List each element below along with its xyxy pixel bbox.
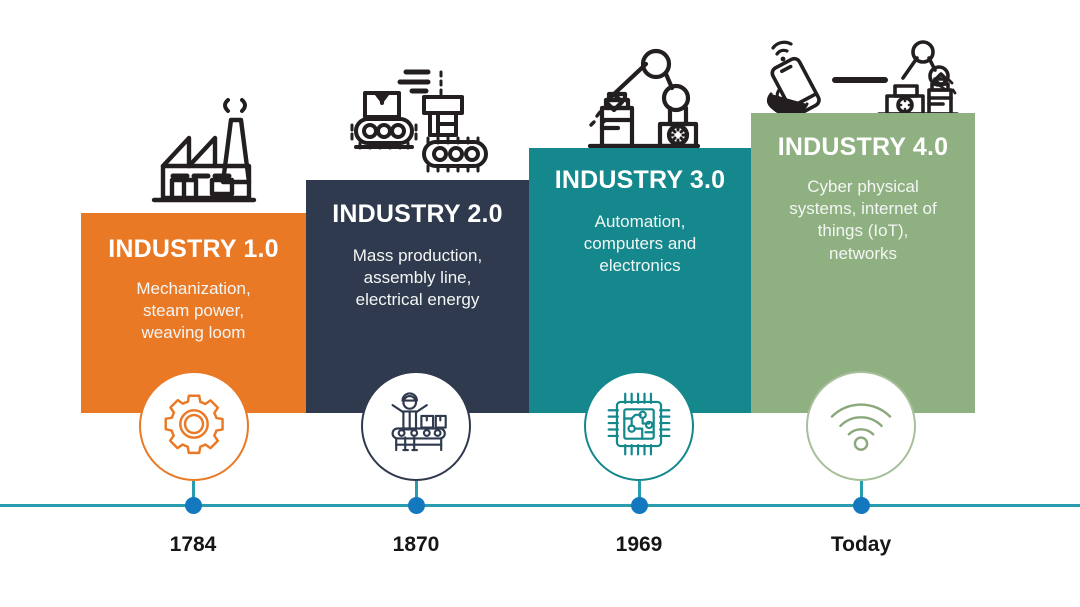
infographic-canvas: INDUSTRY 1.0 Mechanization,steam power,w… — [0, 0, 1080, 607]
stage-description: Automation,computers andelectronics — [529, 195, 751, 278]
conveyor-packaging-icon — [346, 64, 496, 176]
stage-panel-industry-4: INDUSTRY 4.0 Cyber physicalsystems, inte… — [751, 113, 975, 413]
stage-badge-industry-2 — [361, 371, 471, 481]
factory-icon — [132, 92, 266, 210]
gear-icon — [161, 391, 227, 462]
stage-title: INDUSTRY 1.0 — [81, 213, 306, 264]
timeline-year-industry-4: Today — [781, 533, 941, 557]
timeline-year-industry-2: 1870 — [336, 533, 496, 557]
stage-description: Mechanization,steam power,weaving loom — [81, 264, 306, 345]
stage-badge-industry-1 — [139, 371, 249, 481]
timeline-node-industry-4[interactable] — [853, 497, 870, 514]
stage-badge-industry-3 — [584, 371, 694, 481]
timeline-node-industry-2[interactable] — [408, 497, 425, 514]
timeline-year-industry-3: 1969 — [559, 533, 719, 557]
stage-description: Mass production,assembly line,electrical… — [306, 229, 529, 312]
microchip-icon — [605, 390, 673, 463]
timeline-axis — [0, 504, 1080, 507]
timeline-node-industry-1[interactable] — [185, 497, 202, 514]
robot-arm-icon — [580, 42, 706, 154]
timeline-year-industry-1: 1784 — [113, 533, 273, 557]
stage-badge-industry-4 — [806, 371, 916, 481]
stage-title: INDUSTRY 4.0 — [751, 113, 975, 162]
smartphone-robot-link-icon — [757, 32, 959, 120]
wifi-icon — [826, 395, 896, 458]
stage-description: Cyber physicalsystems, internet ofthings… — [751, 162, 975, 266]
assembly-line-worker-icon — [380, 390, 452, 463]
timeline-node-industry-3[interactable] — [631, 497, 648, 514]
stage-title: INDUSTRY 2.0 — [306, 180, 529, 229]
stage-title: INDUSTRY 3.0 — [529, 148, 751, 195]
